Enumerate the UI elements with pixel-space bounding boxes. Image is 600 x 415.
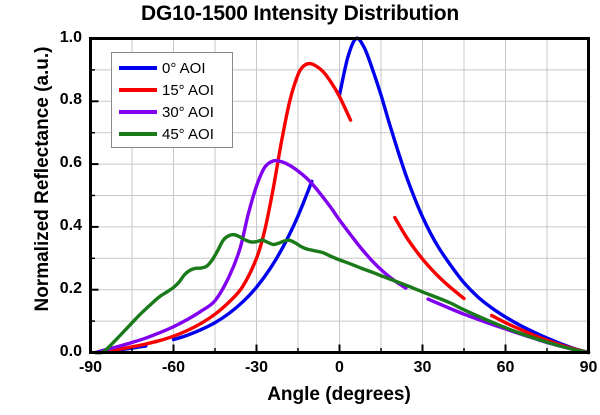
x-tick-label: 90 [559,359,600,377]
y-tick-label: 0.2 [34,280,82,298]
legend-swatch-line-icon [119,132,157,136]
legend-swatch-line-icon [119,88,157,92]
chart-figure: DG10-1500 Intensity Distribution Normali… [0,0,600,415]
y-tick-label: 0.6 [34,154,82,172]
x-tick-label: 60 [476,359,536,377]
curve-series-3 [96,235,588,353]
y-tick-label: 0.4 [34,217,82,235]
legend-swatch-line-icon [119,110,157,114]
x-axis-label: Angle (degrees) [90,384,588,406]
x-tick-label: -90 [61,359,121,377]
legend-item[interactable]: 45° AOI [112,123,232,145]
y-tick-label: 0.8 [34,91,82,109]
x-tick-label: 30 [393,359,453,377]
legend-item[interactable]: 15° AOI [112,79,232,101]
legend-item-label: 45° AOI [162,127,214,142]
legend-item-label: 0° AOI [162,61,206,76]
x-tick-label: -30 [227,359,287,377]
curve-series-2 [96,161,406,353]
plot-area [0,0,600,415]
legend-item[interactable]: 30° AOI [112,101,232,123]
legend-item-label: 30° AOI [162,105,214,120]
x-tick-label: -60 [144,359,204,377]
y-tick-label: 1.0 [34,29,82,47]
legend: 0° AOI15° AOI30° AOI45° AOI [111,52,233,148]
x-tick-label: 0 [310,359,370,377]
legend-swatch-line-icon [119,66,157,70]
legend-item-label: 15° AOI [162,83,214,98]
legend-item[interactable]: 0° AOI [112,57,232,79]
